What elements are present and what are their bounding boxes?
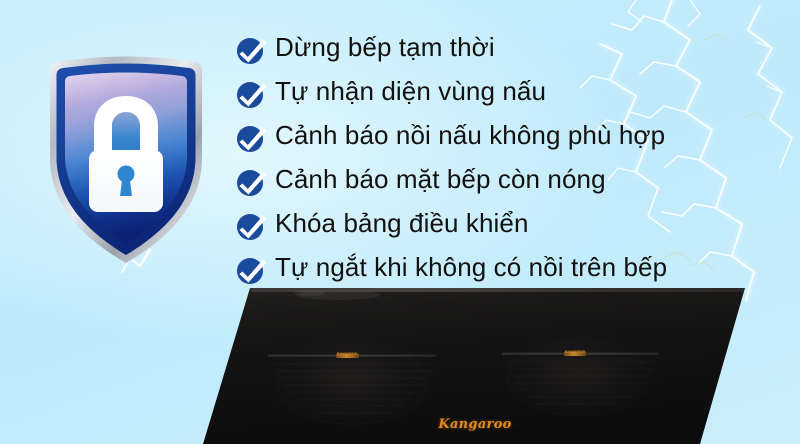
feature-list: Dừng bếp tạm thời Tự nhận diện vùng nấu … — [236, 30, 796, 294]
check-circle-icon — [236, 79, 266, 109]
booster-label-right: BOOSTER — [565, 350, 585, 354]
list-item-label: Tự ngắt khi không có nồi trên bếp — [275, 250, 667, 284]
cooktop-reflection-spec — [294, 290, 326, 296]
list-item-label: Cảnh báo mặt bếp còn nóng — [275, 162, 606, 196]
list-item-label: Dừng bếp tạm thời — [275, 30, 495, 64]
list-item: Tự nhận diện vùng nấu — [236, 74, 796, 118]
cooking-zone-right — [492, 322, 664, 422]
list-item-label: Tự nhận diện vùng nấu — [275, 74, 546, 108]
check-circle-icon — [236, 167, 266, 197]
list-item-label: Cảnh báo nồi nấu không phù hợp — [275, 118, 665, 152]
induction-cooktop: Kangaroo BOOSTER BOOSTER — [190, 286, 760, 444]
list-item: Dừng bếp tạm thời — [236, 30, 796, 74]
check-circle-icon — [236, 211, 266, 241]
check-circle-icon — [236, 123, 266, 153]
shield-lock-icon — [44, 54, 208, 266]
list-item: Cảnh báo mặt bếp còn nóng — [236, 162, 796, 206]
booster-label-left: BOOSTER — [337, 352, 357, 356]
check-circle-icon — [236, 255, 266, 285]
list-item: Cảnh báo nồi nấu không phù hợp — [236, 118, 796, 162]
promo-banner: Dừng bếp tạm thời Tự nhận diện vùng nấu … — [0, 0, 800, 444]
padlock-icon — [89, 96, 163, 212]
list-item-label: Khóa bảng điều khiển — [275, 206, 529, 240]
list-item: Khóa bảng điều khiển — [236, 206, 796, 250]
check-circle-icon — [236, 35, 266, 65]
brand-logo: Kangaroo — [190, 417, 760, 432]
